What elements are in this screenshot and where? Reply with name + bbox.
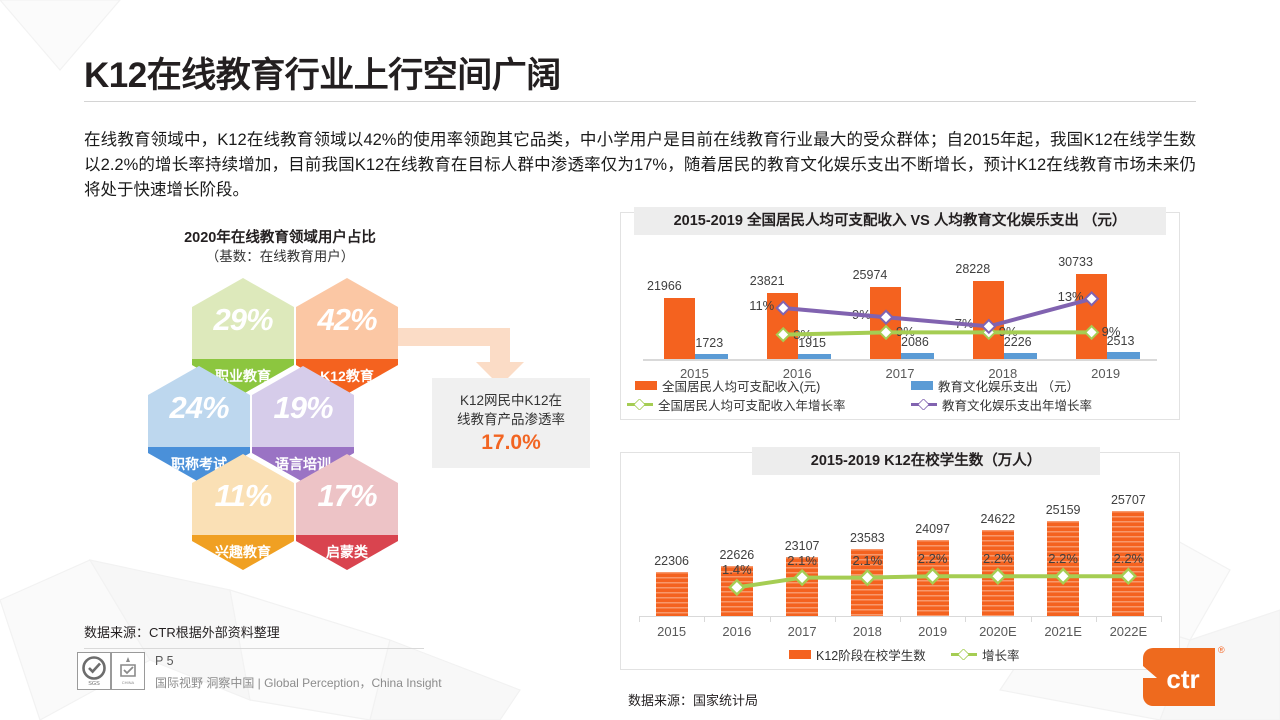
ctr-logo: ctr [1143,648,1215,706]
hex-value: 11% [192,480,294,511]
legend-growth: 增长率 [951,645,1020,664]
hex-value: 19% [252,392,354,423]
chart-income-vs-spend: 2196617232015238211915201625974208620172… [621,213,1179,419]
callout-line1: K12网民中K12在 [460,391,562,410]
chart-k12-students: 2230620152262620162310720172358320182409… [621,453,1179,669]
hex-label: 启蒙类 [296,542,398,562]
legend-income-growth: 全国居民人均可支配收入年增长率 [627,395,846,414]
callout-line2: 线教育产品渗透率 [457,410,565,429]
legend-income: 全国居民人均可支配收入(元) [635,376,820,395]
growth-rate-marker [795,571,809,585]
legend-spend-growth: 教育文化娱乐支出年增长率 [911,395,1092,414]
legend-growth-text: 增长率 [982,645,1020,664]
spend-growth-marker [1085,292,1098,305]
growth-rate-marker [860,571,874,585]
source-note-right: 数据来源：国家统计局 [628,690,758,709]
chart-panel-students: 2230620152262620162310720172358320182409… [620,452,1180,670]
page-number: P 5 [155,654,174,668]
title-divider [84,101,1196,102]
income-growth-marker [777,328,790,341]
legend-income-growth-swatch [627,399,653,410]
growth-rate-marker [926,569,940,583]
hex-chart-title: 2020年在线教育领域用户占比 [130,226,430,247]
legend-spend-growth-text: 教育文化娱乐支出年增长率 [942,395,1092,414]
intro-paragraph: 在线教育领域中，K12在线教育领域以42%的使用率领跑其它品类，中小学用户是目前… [84,128,1196,203]
spend-growth-marker [777,302,790,315]
hex-label: 兴趣教育 [192,542,294,562]
source-note-left: 数据来源：CTR根据外部资料整理 [84,622,280,641]
registered-trademark-icon: ® [1218,645,1225,655]
callout-value: 17.0% [481,431,541,455]
page-title: K12在线教育行业上行空间广阔 [84,47,561,98]
legend-spend-text: 教育文化娱乐支出 （元） [938,376,1079,395]
china-cert-logo-icon: CHINA [111,652,145,690]
legend-spend-growth-swatch [911,399,937,410]
hex-value: 42% [296,304,398,335]
growth-rate-marker [991,569,1005,583]
legend-spend: 教育文化娱乐支出 （元） [911,376,1079,395]
legend-students-swatch [789,650,811,659]
penetration-callout: K12网民中K12在 线教育产品渗透率 17.0% [432,378,590,468]
legend-students-text: K12阶段在校学生数 [816,645,926,664]
hexagon-chart: 29% 职业教育 42% K12教育 24% 职称考试 19% 语言培训 11%… [148,278,448,588]
chart-panel-income: 2196617232015238211915201625974208620172… [620,212,1180,420]
legend-income-text: 全国居民人均可支配收入(元) [662,376,820,395]
legend-income-growth-text: 全国居民人均可支配收入年增长率 [658,395,846,414]
growth-rate-marker [730,580,744,594]
hex-chart-subtitle: （基数：在线教育用户） [130,245,430,265]
growth-rate-marker [1121,569,1135,583]
income-growth-marker [1085,326,1098,339]
spend-growth-marker [880,311,893,324]
chart-title-income: 2015-2019 全国居民人均可支配收入 VS 人均教育文化娱乐支出 （元） [634,207,1166,235]
hex-value: 24% [148,392,250,423]
income-growth-marker [880,326,893,339]
footer-slogan: 国际视野 洞察中国 | Global Perception，China Insi… [155,674,442,691]
legend-students: K12阶段在校学生数 [789,645,926,664]
svg-text:CHINA: CHINA [122,680,135,685]
legend-growth-swatch [951,649,977,660]
svg-text:ctr: ctr [1166,664,1199,694]
footer-divider [84,648,424,649]
legend-income-swatch [635,381,657,390]
income-growth-line [783,332,1091,334]
growth-rate-marker [1056,569,1070,583]
hex-value: 17% [296,480,398,511]
svg-text:SGS: SGS [88,681,100,687]
growth-line-layer [621,453,1179,669]
sgs-logo-icon: SGS [77,652,111,690]
spend-growth-line [783,299,1091,327]
hex-value: 29% [192,304,294,335]
chart-title-students: 2015-2019 K12在校学生数（万人） [752,447,1100,475]
legend-spend-swatch [911,381,933,390]
certification-logos: SGS CHINA [77,652,145,690]
